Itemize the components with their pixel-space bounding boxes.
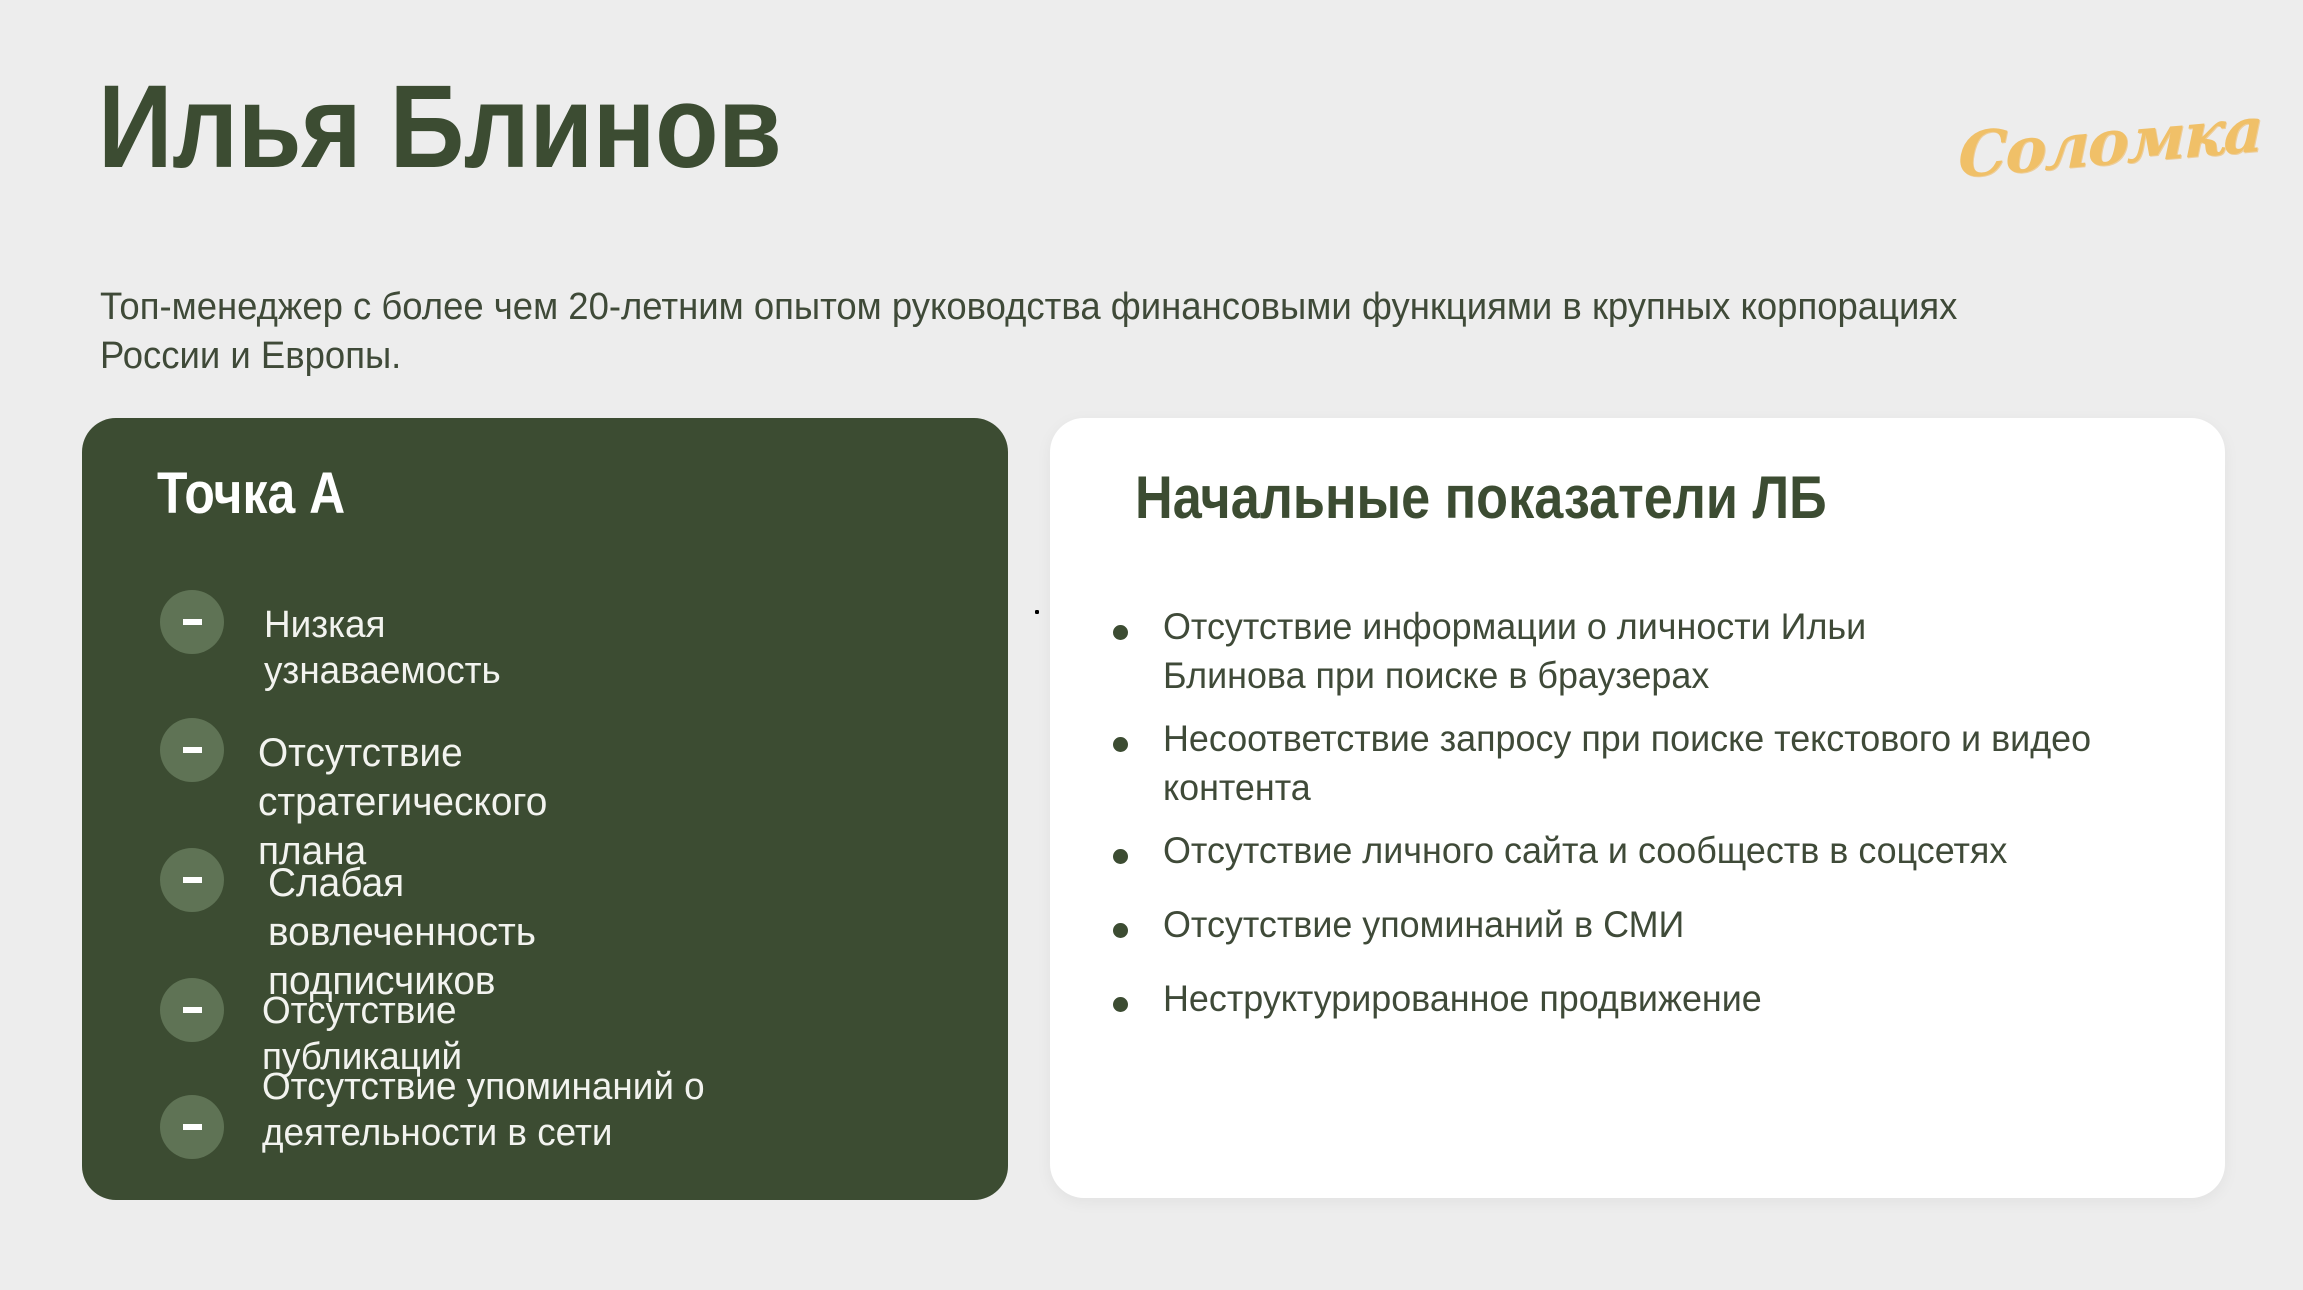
dot-bullet-icon (1113, 849, 1128, 864)
brand-logo-wordmark: Соломка (1985, 85, 2236, 199)
dot-bullet-icon (1113, 923, 1128, 938)
list-item-label: Отсутствие стратегического плана (258, 729, 547, 875)
cards-row: Точка А Низкая узнаваемость Отсутствие с… (0, 418, 2303, 1208)
card-initial-metrics-title: Начальные показатели ЛБ (1135, 463, 1827, 532)
dot-bullet-icon (1113, 625, 1128, 640)
card-initial-metrics: Начальные показатели ЛБ Отсутствие инфор… (1050, 418, 2225, 1198)
dash-bullet-icon (160, 978, 224, 1042)
list-item-label: Неструктурированное продвижение (1163, 975, 2133, 1024)
card-point-a: Точка А Низкая узнаваемость Отсутствие с… (82, 418, 1008, 1200)
dash-bullet-icon (160, 848, 224, 912)
list-item-label: Отсутствие упоминаний в СМИ (1163, 901, 2133, 950)
dot-bullet-icon (1113, 997, 1128, 1012)
dot-bullet-icon (1113, 737, 1128, 752)
list-item-label: Несоответствие запросу при поиске тексто… (1163, 715, 2109, 813)
list-item-label: Отсутствие личного сайта и сообществ в с… (1163, 827, 2133, 876)
card-point-a-title: Точка А (157, 460, 345, 527)
dash-bullet-icon (160, 718, 224, 782)
list-item-label: Низкая узнаваемость (264, 602, 501, 695)
brand-logo: Соломка (1985, 96, 2235, 188)
dash-bullet-icon (160, 590, 224, 654)
slide-root: Илья Блинов Соломка Топ-менеджер с более… (0, 0, 2303, 1290)
list-item-label: Отсутствие информации о личности Ильи Бл… (1163, 603, 1939, 701)
page-title: Илья Блинов (98, 68, 781, 186)
list-item-label: Слабая вовлеченность подписчиков (268, 859, 536, 1005)
page-subtitle: Топ-менеджер с более чем 20-летним опыто… (100, 283, 2078, 382)
list-item-label: Отсутствие упоминаний о деятельности в с… (262, 1064, 728, 1157)
dash-bullet-icon (160, 1095, 224, 1159)
